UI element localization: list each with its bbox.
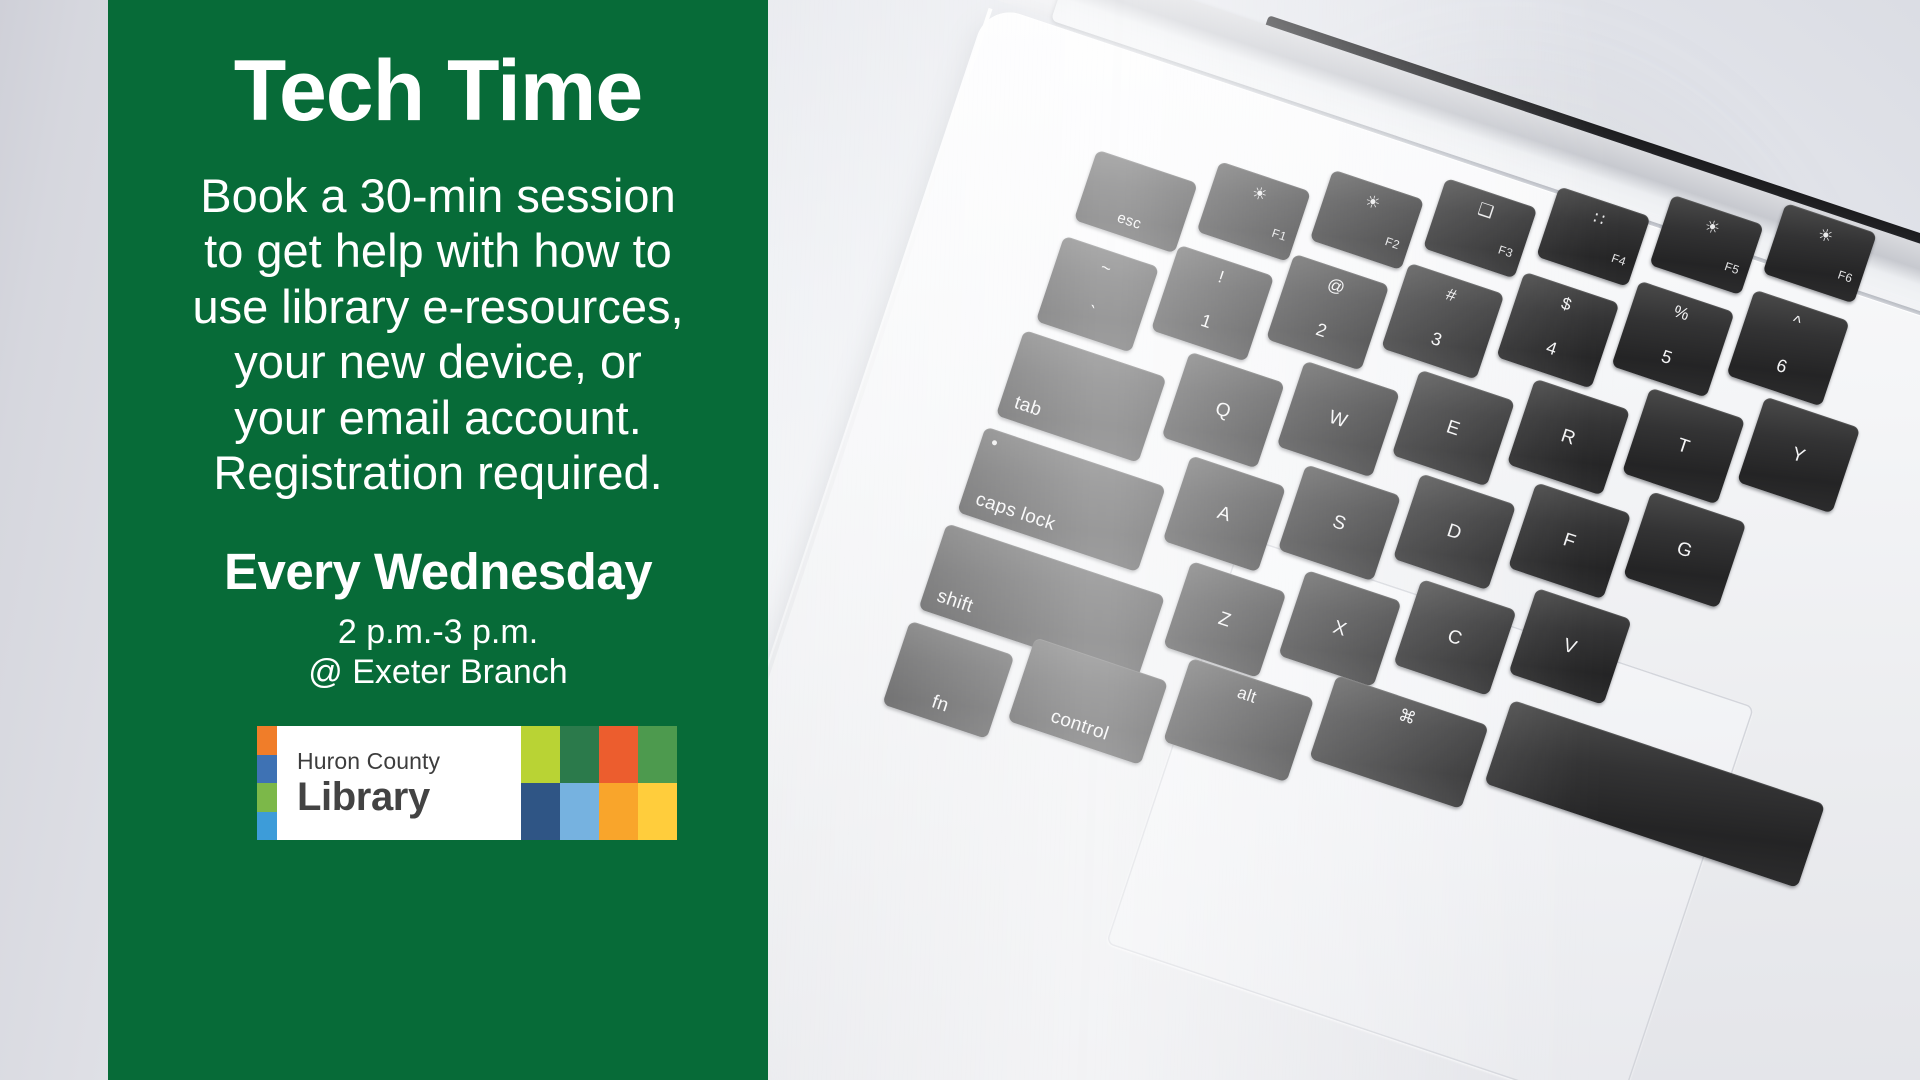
logo-grid-swatch-1 [521, 726, 560, 783]
logo-arrow-icon [489, 726, 521, 840]
logo-line-library: Library [297, 777, 489, 817]
huron-county-library-logo: Huron County Library [257, 726, 677, 840]
key-glyph-icon: ☀ [1699, 217, 1722, 247]
key-glyph-icon: ☀ [1813, 225, 1836, 255]
event-recurrence: Every Wednesday [224, 545, 652, 599]
event-details: 2 p.m.-3 p.m. @ Exeter Branch [308, 612, 567, 692]
key-fn-number: F5 [1720, 260, 1741, 285]
logo-grid-swatch-6 [560, 783, 599, 840]
logo-grid-swatch-2 [560, 726, 599, 783]
logo-line-huron-county: Huron County [297, 750, 489, 773]
description-line: your email account. [192, 390, 683, 445]
key-upper-label: % [1669, 303, 1692, 333]
key-upper-label: ^ [1787, 313, 1803, 340]
logo-strip-swatch-blue [257, 755, 277, 784]
logo-color-grid [521, 726, 677, 840]
poster-description: Book a 30-min session to get help with h… [192, 168, 683, 501]
logo-grid-swatch-4 [638, 726, 677, 783]
key-label: T [1675, 435, 1692, 457]
poster-canvas: esc☀F1☀F2❑F3∷F4☀F5☀F6~`!1@2#3$4%5^6tabQW… [0, 0, 1920, 1080]
logo-color-strip [257, 726, 277, 840]
laptop-photo: esc☀F1☀F2❑F3∷F4☀F5☀F6~`!1@2#3$4%5^6tabQW… [768, 0, 1920, 1080]
event-time: 2 p.m.-3 p.m. [308, 612, 567, 652]
page-title: Tech Time [234, 48, 642, 134]
poster-panel: Tech Time Book a 30-min session to get h… [108, 0, 768, 1080]
description-line: use library e-resources, [192, 279, 683, 334]
key-fn-number: F6 [1834, 269, 1855, 294]
logo-grid-swatch-3 [599, 726, 638, 783]
description-line: Book a 30-min session [192, 168, 683, 223]
description-line: to get help with how to [192, 223, 683, 278]
key-label: Y [1789, 444, 1807, 466]
logo-grid-swatch-7 [599, 783, 638, 840]
key-lower-label: 6 [1771, 356, 1789, 385]
logo-wordmark: Huron County Library [277, 726, 489, 840]
event-location: @ Exeter Branch [308, 652, 567, 692]
logo-grid-swatch-5 [521, 783, 560, 840]
key-lower-label: 5 [1656, 347, 1674, 376]
description-line: your new device, or [192, 334, 683, 389]
description-line: Registration required. [192, 445, 683, 500]
logo-strip-swatch-green [257, 783, 277, 812]
logo-strip-swatch-lightblue [257, 812, 277, 841]
logo-grid-swatch-8 [638, 783, 677, 840]
logo-strip-swatch-orange [257, 726, 277, 755]
